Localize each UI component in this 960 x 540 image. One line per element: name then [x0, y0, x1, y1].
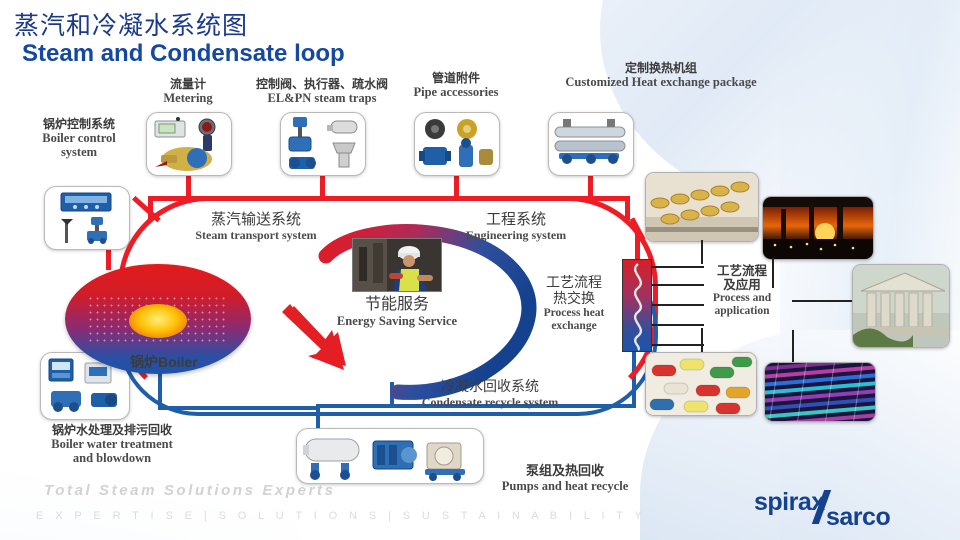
connector-refinery: [772, 258, 774, 288]
refinery-sunset-photo-icon: [763, 197, 873, 259]
building-photo-icon: [853, 265, 949, 347]
logo-text-spirax: spirax: [754, 488, 825, 517]
product-box-pumps[interactable]: [296, 428, 484, 484]
label-water-treatment-cn: 锅炉水处理及排污回收: [22, 424, 202, 437]
label-energy-saving-en: Energy Saving Service: [312, 314, 482, 328]
control-valve-icon: [281, 113, 365, 175]
connector-food-cans: [701, 240, 703, 264]
boiler-flame-icon: [129, 304, 187, 338]
connector-building: [792, 300, 852, 302]
label-steam-transport: 蒸汽输送系统 Steam transport system: [176, 212, 336, 242]
application-photo-textile[interactable]: [764, 362, 876, 422]
label-pipe-accessories: 管道附件 Pipe accessories: [392, 72, 520, 99]
label-pumps: 泵组及热回收 Pumps and heat recycle: [480, 464, 650, 493]
label-valves-cn: 控制阀、执行器、疏水阀: [253, 78, 391, 91]
label-process-heat-cn1: 工艺流程: [528, 276, 620, 292]
label-water-treatment-en2: and blowdown: [22, 451, 202, 465]
brand-pillars: E X P E R T I S E | S O L U T I O N S | …: [36, 510, 646, 522]
page-title-english: Steam and Condensate loop: [22, 40, 345, 68]
label-process-application-en2: application: [688, 305, 796, 318]
label-heat-exchange-package-en: Customized Heat exchange package: [536, 75, 786, 89]
label-energy-saving-cn: 节能服务: [312, 296, 482, 314]
food-cans-photo-icon: [646, 173, 758, 241]
product-box-heat-exchange-package[interactable]: [548, 112, 634, 176]
heat-exchange-package-icon: [549, 113, 633, 175]
label-condensate-recycle-cn: 冷凝水回收系统: [400, 380, 580, 396]
label-process-application: 工艺流程 及应用 Process and application: [688, 264, 796, 318]
pipe-accessories-icon: [415, 113, 499, 175]
label-condensate-recycle-en: Condensate recycle system: [400, 396, 580, 409]
label-boiler-control: 锅炉控制系统 Boiler control system: [24, 118, 134, 159]
connector-pills: [701, 328, 703, 352]
slide-canvas: 蒸汽和冷凝水系统图 Steam and Condensate loop: [0, 0, 960, 540]
label-boiler-control-en2: system: [24, 145, 134, 159]
label-condensate-recycle: 冷凝水回收系统 Condensate recycle system: [400, 380, 580, 409]
application-photo-refinery[interactable]: [762, 196, 874, 260]
label-process-application-cn1: 工艺流程: [688, 264, 796, 278]
label-pumps-en: Pumps and heat recycle: [480, 479, 650, 493]
label-engineering-system: 工程系统 Engineering system: [448, 212, 584, 242]
label-valves-en: EL&PN steam traps: [253, 91, 391, 105]
engineer-service-icon: [353, 239, 441, 291]
label-engineering-system-en: Engineering system: [448, 229, 584, 242]
application-photo-building[interactable]: [852, 264, 950, 348]
label-process-application-cn2: 及应用: [688, 278, 796, 292]
label-process-heat-exchange: 工艺流程 热交换 Process heat exchange: [528, 276, 620, 333]
label-steam-transport-en: Steam transport system: [176, 229, 336, 242]
label-steam-transport-cn: 蒸汽输送系统: [176, 212, 336, 229]
product-box-boiler-control[interactable]: [44, 186, 130, 250]
heat-exchanger-coil-icon: [626, 262, 650, 351]
engineer-photo: [352, 238, 442, 292]
label-process-heat-en1: Process heat: [528, 307, 620, 320]
label-process-heat-cn2: 热交换: [528, 292, 620, 308]
textile-photo-icon: [765, 363, 875, 421]
label-process-application-en1: Process and: [688, 292, 796, 305]
application-photo-pills[interactable]: [645, 352, 757, 416]
spirax-sarco-logo: spirax sarco: [748, 486, 948, 532]
pharmaceutical-pills-photo-icon: [646, 353, 756, 415]
product-box-valves[interactable]: [280, 112, 366, 176]
product-box-metering[interactable]: [146, 112, 232, 176]
label-pipe-accessories-cn: 管道附件: [392, 72, 520, 85]
tagline: Total Steam Solutions Experts: [44, 482, 336, 499]
label-valves: 控制阀、执行器、疏水阀 EL&PN steam traps: [253, 78, 391, 105]
heat-exchanger-graphic: [622, 259, 652, 352]
label-energy-saving: 节能服务 Energy Saving Service: [312, 296, 482, 328]
label-water-treatment-en1: Boiler water treatment: [22, 437, 202, 451]
label-pipe-accessories-en: Pipe accessories: [392, 85, 520, 99]
product-box-pipe-accessories[interactable]: [414, 112, 500, 176]
label-boiler: 锅炉Boiler: [130, 352, 198, 372]
label-heat-exchange-package: 定制换热机组 Customized Heat exchange package: [536, 62, 786, 89]
label-water-treatment: 锅炉水处理及排污回收 Boiler water treatment and bl…: [22, 424, 202, 465]
label-process-heat-en2: exchange: [528, 320, 620, 333]
label-boiler-control-en1: Boiler control: [24, 131, 134, 145]
pumps-icon: [297, 429, 483, 483]
application-photo-food-cans[interactable]: [645, 172, 759, 242]
label-heat-exchange-package-cn: 定制换热机组: [536, 62, 786, 75]
heat-exchanger-output-lines: [652, 262, 704, 352]
label-metering: 流量计 Metering: [148, 78, 228, 105]
logo-text-sarco: sarco: [826, 503, 890, 532]
metering-icon: [147, 113, 231, 175]
label-metering-cn: 流量计: [148, 78, 228, 91]
label-engineering-system-cn: 工程系统: [448, 212, 584, 229]
page-title-chinese: 蒸汽和冷凝水系统图: [14, 6, 248, 42]
connector-textile: [792, 330, 794, 362]
label-pumps-cn: 泵组及热回收: [480, 464, 650, 479]
label-metering-en: Metering: [148, 91, 228, 105]
label-boiler-control-cn: 锅炉控制系统: [24, 118, 134, 131]
boiler-control-icon: [45, 187, 129, 249]
